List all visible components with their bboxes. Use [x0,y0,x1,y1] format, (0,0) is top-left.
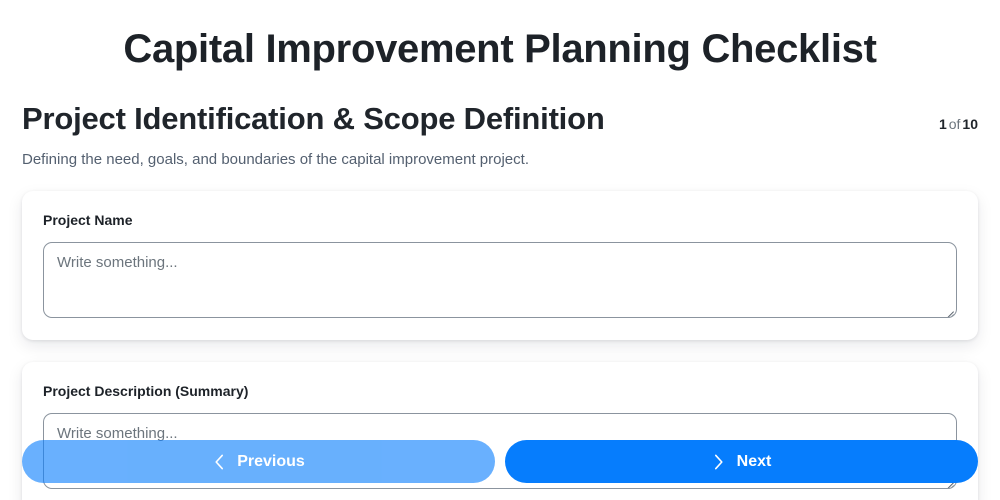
page-title: Capital Improvement Planning Checklist [0,0,1000,76]
section-subtitle: Defining the need, goals, and boundaries… [0,138,1000,170]
previous-button-label: Previous [237,453,305,471]
navigation-bar: Previous Next [0,440,1000,483]
question-card-project-name: Project Name Write something... [22,191,978,340]
project-name-input[interactable]: Write something... [43,242,957,318]
section-title: Project Identification & Scope Definitio… [22,100,605,138]
step-of-label: of [947,116,963,132]
chevron-left-icon [212,453,226,471]
section-header: Project Identification & Scope Definitio… [0,76,1000,138]
resize-handle-icon[interactable] [942,303,954,315]
project-name-placeholder: Write something... [57,253,943,273]
previous-button[interactable]: Previous [22,440,495,483]
next-button[interactable]: Next [505,440,978,483]
question-label: Project Name [43,211,957,230]
step-total: 10 [962,116,978,132]
step-current: 1 [939,116,947,132]
step-counter: 1of10 [925,114,978,134]
checklist-app: Capital Improvement Planning Checklist P… [0,0,1000,500]
chevron-right-icon [712,453,726,471]
question-label: Project Description (Summary) [43,382,957,401]
next-button-label: Next [737,453,772,471]
